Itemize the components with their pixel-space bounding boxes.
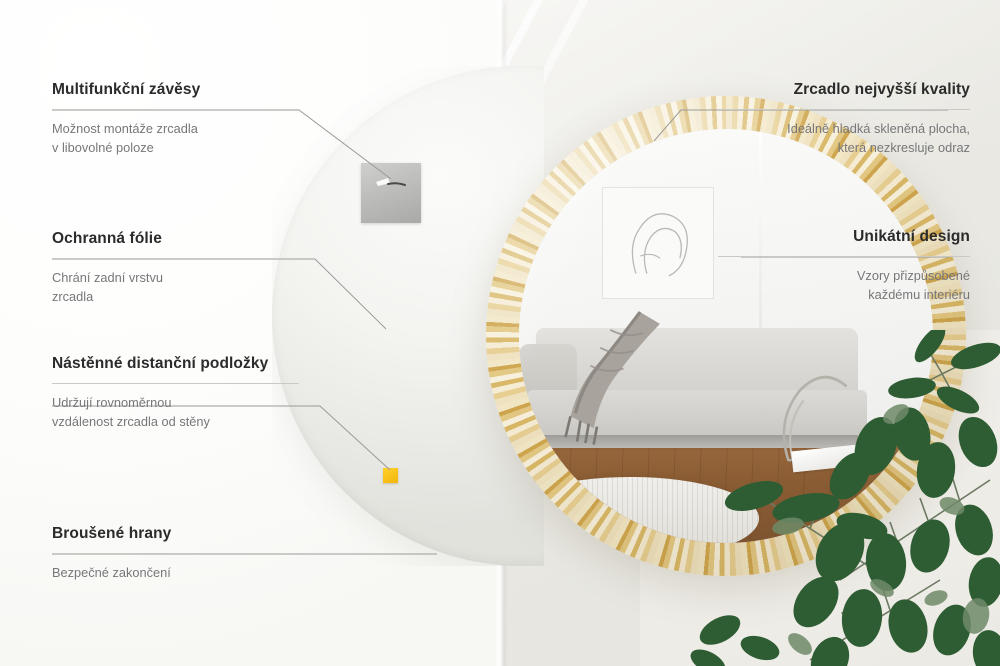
callout-title: Ochranná fólie <box>52 229 299 249</box>
callout-rule <box>52 109 299 110</box>
infographic-stage: Multifunkční závěsy Možnost montáže zrca… <box>0 0 1000 666</box>
callout-rule <box>52 258 299 259</box>
callout-brousene-hrany: Broušené hrany Bezpečné zakončení <box>52 524 299 583</box>
hanger-slot-icon <box>374 176 408 190</box>
hanger-bracket-plate <box>361 163 421 223</box>
callout-rule <box>718 109 970 110</box>
callout-multifunkcni-zavesy: Multifunkční závěsy Možnost montáže zrca… <box>52 80 299 158</box>
callout-unikatni-design: Unikátní design Vzory přizpůsobenékaždém… <box>718 227 970 305</box>
callout-description: Udržují rovnoměrnouvzdálenost zrcadla od… <box>52 394 299 432</box>
callout-rule <box>52 553 299 554</box>
callout-nastenne-distancni-podlozky: Nástěnné distanční podložky Udržují rovn… <box>52 354 299 432</box>
callout-description: Ideálně hladká skleněná plocha,která nez… <box>718 120 970 158</box>
callout-rule <box>52 383 299 384</box>
callout-description: Bezpečné zakončení <box>52 564 299 583</box>
callout-title: Zrcadlo nejvyšší kvality <box>718 80 970 100</box>
callout-title: Nástěnné distanční podložky <box>52 354 299 374</box>
wall-spacer-pad-marker <box>383 468 398 483</box>
callout-title: Multifunkční závěsy <box>52 80 299 100</box>
callout-title: Unikátní design <box>718 227 970 247</box>
callout-zrcadlo-nejvyssi-kvality: Zrcadlo nejvyšší kvality Ideálně hladká … <box>718 80 970 158</box>
callout-description: Chrání zadní vrstvuzrcadla <box>52 269 299 307</box>
callout-rule <box>718 256 970 257</box>
callout-description: Vzory přizpůsobenékaždému interiéru <box>718 267 970 305</box>
decorative-foliage <box>690 330 1000 666</box>
callout-ochranna-folie: Ochranná fólie Chrání zadní vrstvuzrcadl… <box>52 229 299 307</box>
callout-description: Možnost montáže zrcadlav libovolné poloz… <box>52 120 299 158</box>
callout-title: Broušené hrany <box>52 524 299 544</box>
